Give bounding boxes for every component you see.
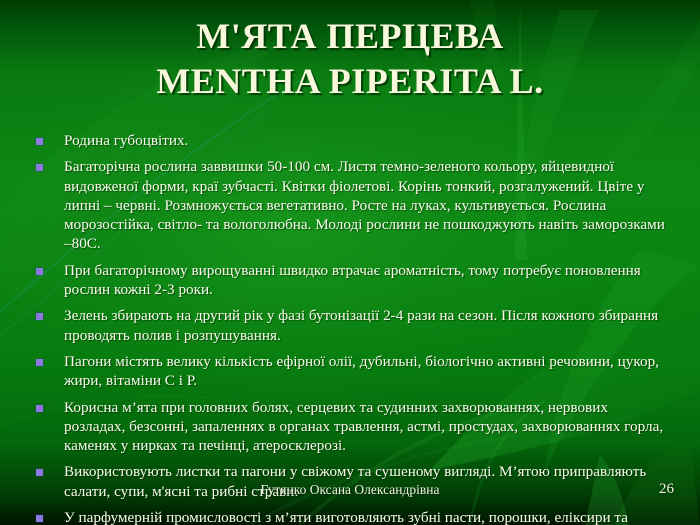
list-item-text: Зелень збирають на другий рік у фазі бут… xyxy=(64,306,672,345)
title-line-2: MENTHA PIPERITA L. xyxy=(0,59,700,104)
list-item-text: Багаторічна рослина заввишки 50-100 см. … xyxy=(64,157,672,253)
list-item-text: У парфумерній промисловості з м’яти виго… xyxy=(64,508,672,525)
list-item-text: Пагони містять велику кількість ефірної … xyxy=(64,352,672,391)
footer-author: Гутянко Оксана Олександрівна xyxy=(0,482,700,498)
title-line-1: М'ЯТА ПЕРЦЕВА xyxy=(0,14,700,59)
slide-title: М'ЯТА ПЕРЦЕВА MENTHA PIPERITA L. xyxy=(0,14,700,104)
bullet-square-icon xyxy=(36,306,64,320)
bullet-square-icon xyxy=(36,462,64,476)
list-item: Зелень збирають на другий рік у фазі бут… xyxy=(36,306,672,345)
list-item: У парфумерній промисловості з м’яти виго… xyxy=(36,508,672,525)
bullet-square-icon xyxy=(36,398,64,412)
bullet-square-icon xyxy=(36,261,64,275)
bullet-square-icon xyxy=(36,131,64,145)
list-item: Багаторічна рослина заввишки 50-100 см. … xyxy=(36,157,672,253)
list-item-text: Родина губоцвітих. xyxy=(64,131,672,150)
list-item: Корисна м’ята при головних болях, серцев… xyxy=(36,398,672,456)
slide-page-number: 26 xyxy=(659,481,674,498)
list-item-text: Корисна м’ята при головних болях, серцев… xyxy=(64,398,672,456)
bullet-square-icon xyxy=(36,157,64,171)
list-item: Родина губоцвітих. xyxy=(36,131,672,150)
list-item: При багаторічному вирощуванні швидко втр… xyxy=(36,261,672,300)
bullet-square-icon xyxy=(36,508,64,522)
list-item: Пагони містять велику кількість ефірної … xyxy=(36,352,672,391)
presentation-slide: М'ЯТА ПЕРЦЕВА MENTHA PIPERITA L. Родина … xyxy=(0,0,700,525)
list-item-text: При багаторічному вирощуванні швидко втр… xyxy=(64,261,672,300)
bullet-square-icon xyxy=(36,352,64,366)
slide-body-bullet-list: Родина губоцвітих. Багаторічна рослина з… xyxy=(36,131,672,525)
